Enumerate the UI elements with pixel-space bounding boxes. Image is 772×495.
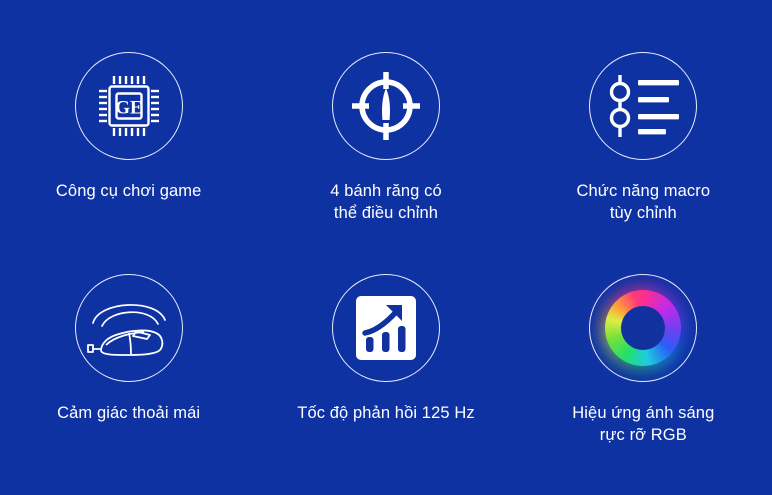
chip-ge-label: GE xyxy=(115,98,142,119)
crosshair-center-pointer xyxy=(382,88,390,120)
feature-label: Tốc độ phản hồi 125 Hz xyxy=(297,402,474,424)
feature-label: Hiệu ứng ánh sáng rực rỡ RGB xyxy=(572,402,714,447)
feature-label: Công cụ chơi game xyxy=(56,180,202,202)
macro-list-bars xyxy=(638,80,679,134)
crosshair-target-icon xyxy=(332,52,440,160)
chip-ge-icon-glyph: GE xyxy=(95,72,163,140)
feature-item-comfort: Cảm giác thoải mái xyxy=(0,274,257,424)
crosshair-target-icon-glyph xyxy=(349,69,423,143)
feature-item-macro-function: Chức năng macro tùy chỉnh xyxy=(515,52,772,225)
growth-bar-chart-icon xyxy=(332,274,440,382)
comfort-wave-arcs xyxy=(93,304,165,325)
slider-track-group xyxy=(612,75,629,137)
feature-item-adjustable-gears: 4 bánh răng có thể điều chỉnh xyxy=(257,52,514,225)
feature-item-gaming-tool: GE Công cụ chơi game xyxy=(0,52,257,202)
rgb-ring-glyph xyxy=(605,290,681,366)
feature-grid: GE Công cụ chơi game 4 bánh răng có thể … xyxy=(0,0,772,495)
feature-label: Cảm giác thoải mái xyxy=(57,402,200,424)
macro-sliders-icon-glyph xyxy=(607,73,679,139)
chip-ge-icon: GE xyxy=(75,52,183,160)
gaming-mouse-icon-glyph xyxy=(86,293,172,363)
rgb-light-ring-icon xyxy=(589,274,697,382)
feature-label: 4 bánh răng có thể điều chỉnh xyxy=(330,180,442,225)
feature-item-polling-rate: Tốc độ phản hồi 125 Hz xyxy=(257,274,514,424)
growth-bar-chart-icon-glyph xyxy=(355,295,417,361)
feature-item-rgb-lighting: Hiệu ứng ánh sáng rực rỡ RGB xyxy=(515,274,772,447)
macro-sliders-icon xyxy=(589,52,697,160)
gaming-mouse-icon xyxy=(75,274,183,382)
mouse-body xyxy=(88,330,162,355)
feature-label: Chức năng macro tùy chỉnh xyxy=(577,180,711,225)
